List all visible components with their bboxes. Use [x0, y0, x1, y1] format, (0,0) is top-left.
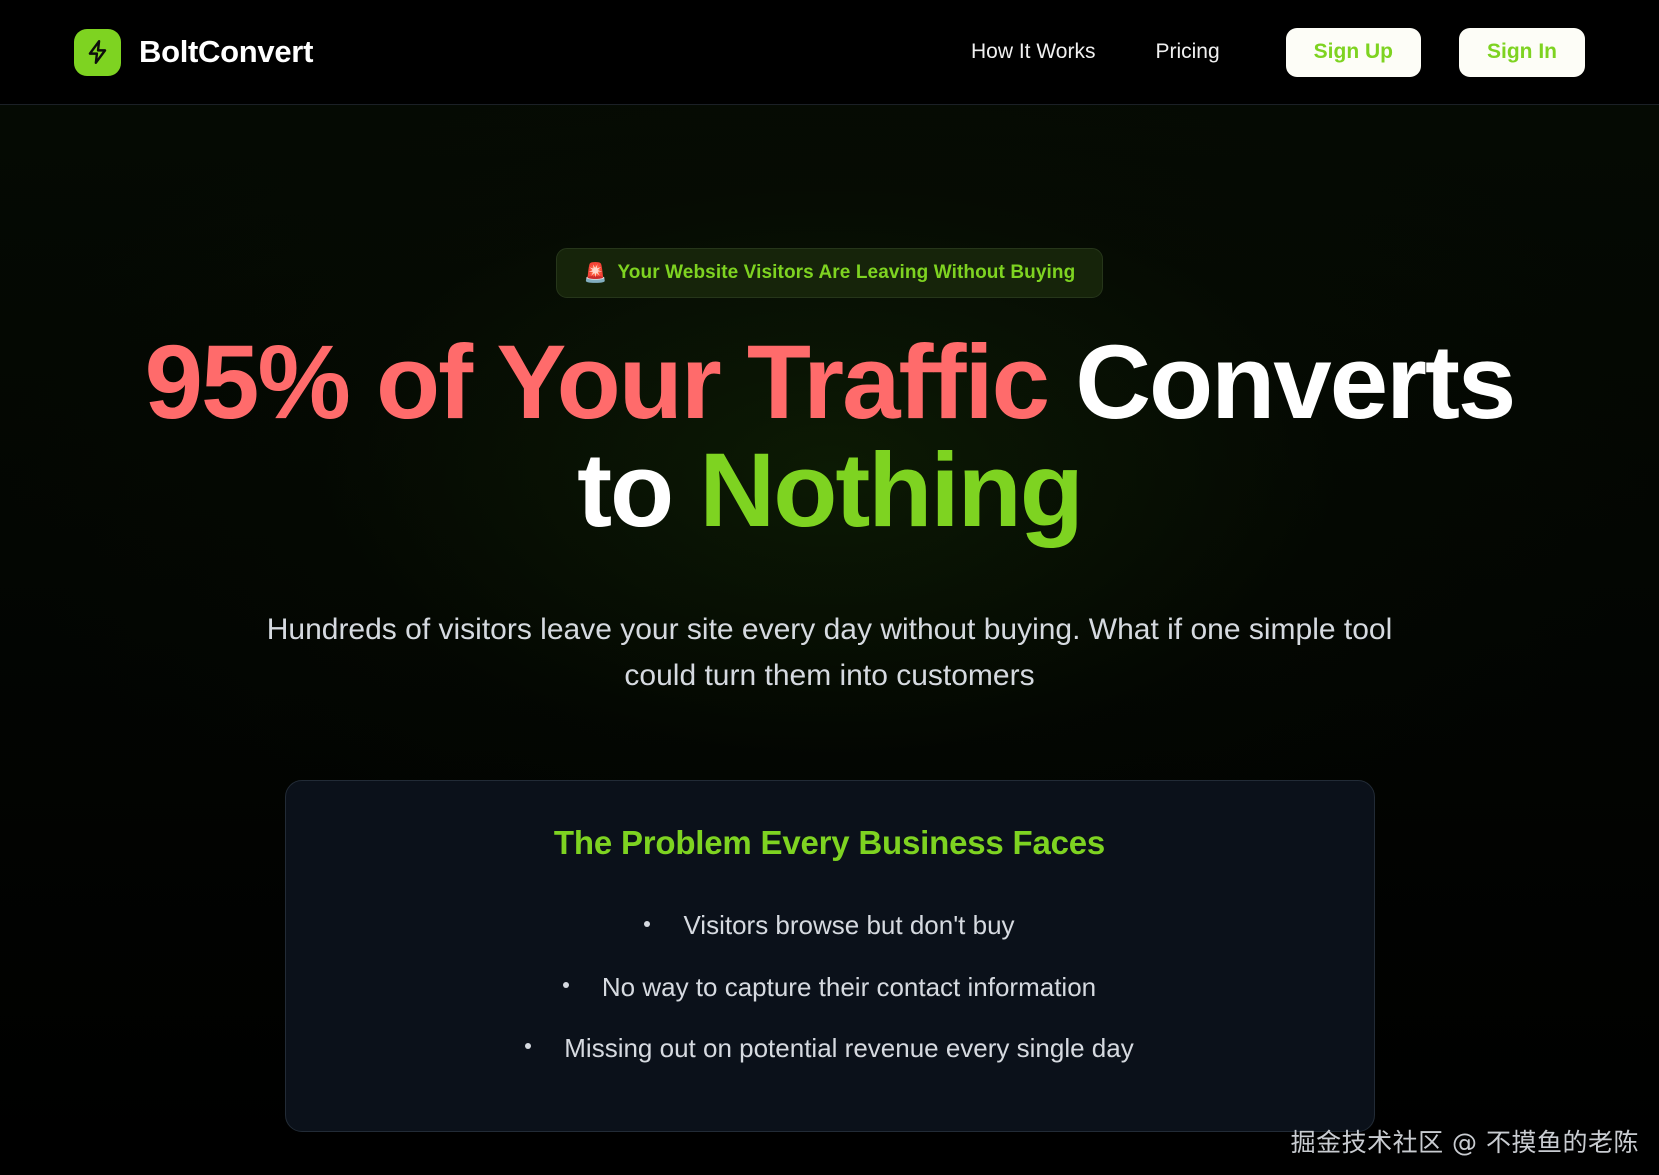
brand-name: BoltConvert — [139, 34, 313, 70]
hero-subheadline: Hundreds of visitors leave your site eve… — [220, 607, 1440, 698]
nav-link-how-it-works[interactable]: How It Works — [941, 40, 1125, 64]
bullet-icon — [563, 982, 569, 988]
list-item: Visitors browse but don't buy — [326, 895, 1334, 956]
bullet-icon — [525, 1043, 531, 1049]
list-item: No way to capture their contact informat… — [326, 957, 1334, 1018]
list-item: Missing out on potential revenue every s… — [326, 1018, 1334, 1079]
alert-badge: 🚨 Your Website Visitors Are Leaving With… — [556, 248, 1104, 298]
sign-in-button[interactable]: Sign In — [1459, 28, 1585, 77]
landing-page: BoltConvert How It Works Pricing Sign Up… — [0, 0, 1659, 1175]
headline-part-to: to — [577, 432, 699, 549]
top-navigation-bar: BoltConvert How It Works Pricing Sign Up… — [0, 0, 1659, 105]
headline-part-red: 95% of Your Traffic — [145, 324, 1048, 441]
list-item-label: No way to capture their contact informat… — [602, 972, 1096, 1002]
bullet-icon — [644, 921, 650, 927]
alert-badge-label: Your Website Visitors Are Leaving Withou… — [617, 262, 1075, 284]
problem-card-title: The Problem Every Business Faces — [326, 824, 1334, 862]
watermark: 掘金技术社区 @ 不摸鱼的老陈 — [1291, 1123, 1639, 1159]
problem-card: The Problem Every Business Faces Visitor… — [285, 780, 1375, 1131]
sign-up-button[interactable]: Sign Up — [1286, 28, 1421, 77]
police-car-light-icon: 🚨 — [584, 264, 608, 283]
hero-content: 🚨 Your Website Visitors Are Leaving With… — [0, 105, 1659, 1132]
headline-part-converts: Converts — [1048, 324, 1514, 441]
nav-actions: How It Works Pricing Sign Up Sign In — [941, 28, 1585, 77]
hero-section: 🚨 Your Website Visitors Are Leaving With… — [0, 105, 1659, 1175]
list-item-label: Missing out on potential revenue every s… — [564, 1033, 1133, 1063]
list-item-label: Visitors browse but don't buy — [683, 910, 1014, 940]
brand-logo[interactable]: BoltConvert — [74, 29, 313, 76]
nav-link-pricing[interactable]: Pricing — [1125, 40, 1249, 64]
page-title: 95% of Your Traffic Converts to Nothing — [0, 329, 1659, 545]
lightning-bolt-icon — [74, 29, 121, 76]
problem-list: Visitors browse but don't buy No way to … — [326, 895, 1334, 1078]
headline-part-nothing: Nothing — [699, 432, 1082, 549]
